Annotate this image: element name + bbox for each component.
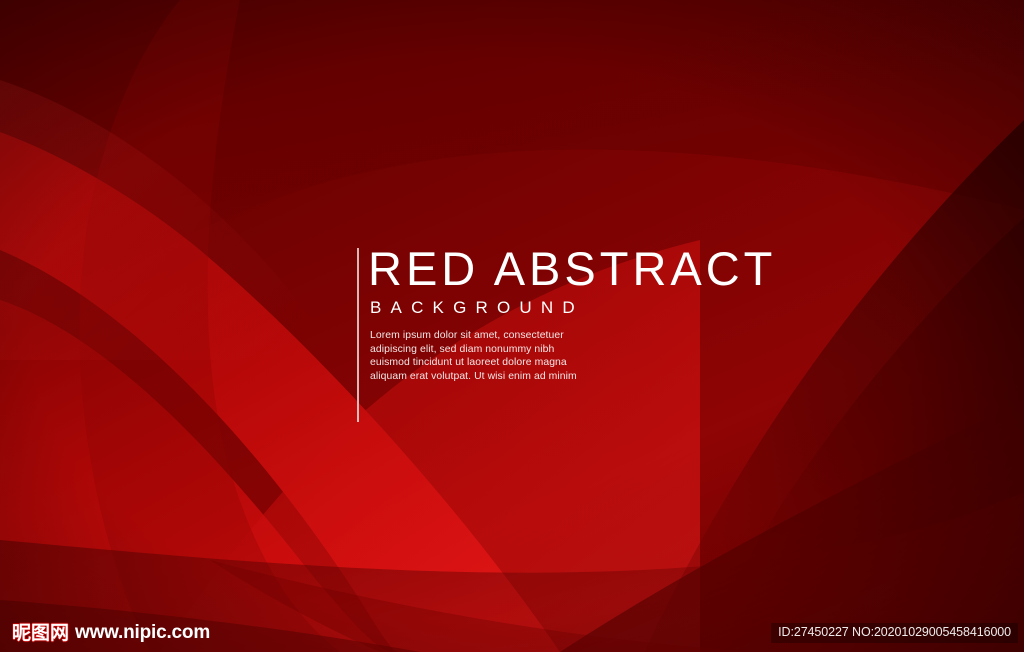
headline-block: RED ABSTRACT BACKGROUND Lorem ipsum dolo… [357,244,787,383]
paragraph-line: aliquam erat volutpat. Ut wisi enim ad m… [370,370,580,384]
paragraph-line: euismod tincidunt ut laoreet dolore magn… [370,356,580,370]
page-title: RED ABSTRACT [357,244,787,294]
poster-canvas: RED ABSTRACT BACKGROUND Lorem ipsum dolo… [0,0,1024,652]
paragraph-line: Lorem ipsum dolor sit amet, consectetuer [370,329,580,343]
accent-vertical-rule [357,248,359,422]
paragraph-line: adipiscing elit, sed diam nonummy nibh [370,343,580,357]
page-subtitle: BACKGROUND [357,294,787,317]
image-id-badge: ID:27450227 NO:20201029005458416000 [771,623,1018,643]
body-paragraph: Lorem ipsum dolor sit amet, consectetuer… [357,317,580,383]
watermark-url: www.nipic.com [75,622,210,644]
watermark-logo: 昵图网 [12,622,69,644]
watermark: 昵图网 www.nipic.com [12,622,210,644]
